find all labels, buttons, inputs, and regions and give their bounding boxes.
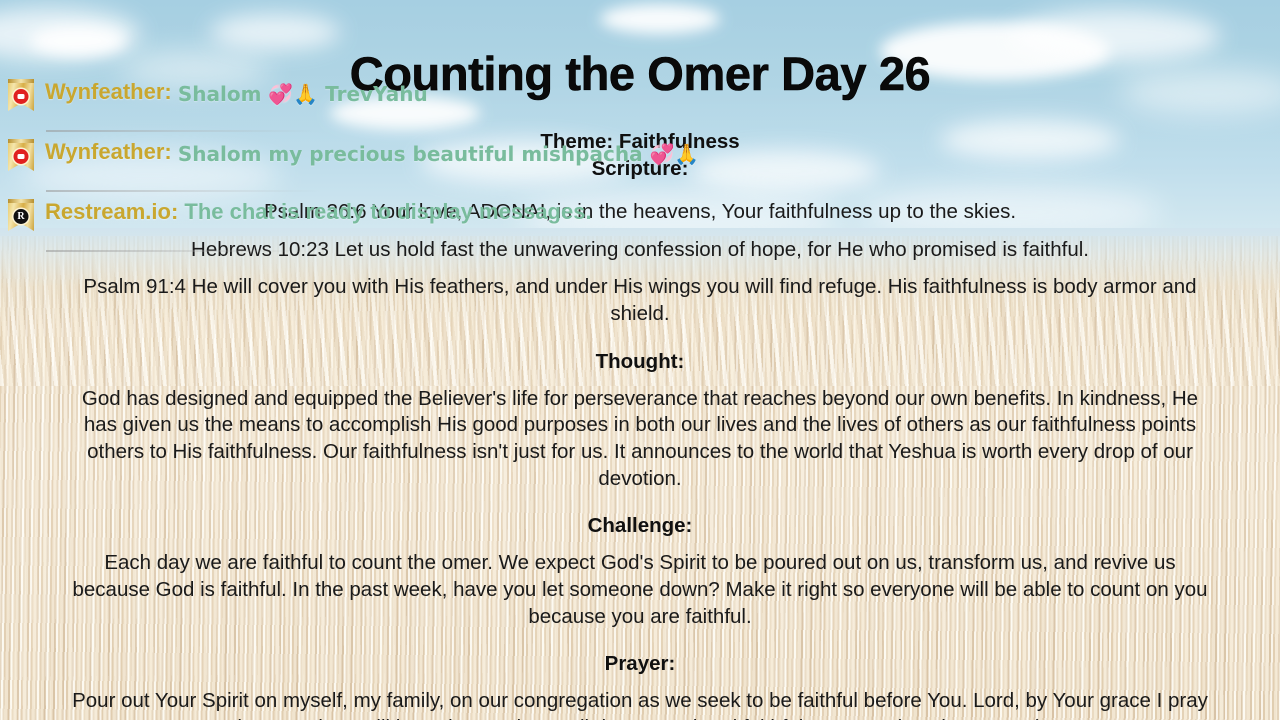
chat-username: Wynfeather: [45, 79, 172, 104]
chat-message-row: Wynfeather: Shalom my precious beautiful… [0, 138, 820, 198]
chat-overlay: Wynfeather: Shalom 💞🙏 TrevYahu Wynfeathe… [0, 78, 820, 258]
chat-divider [46, 250, 321, 252]
chat-message-row: R Restream.io: The chat is ready to disp… [0, 198, 820, 258]
prayer-heading: Prayer: [64, 650, 1216, 677]
scripture-verse-3: Psalm 91:4 He will cover you with His fe… [64, 274, 1216, 327]
chat-divider [46, 130, 321, 132]
youtube-member-badge-icon [8, 139, 34, 171]
chat-username: Wynfeather: [45, 139, 172, 164]
chat-message-text: Restream.io: The chat is ready to displa… [45, 198, 820, 225]
chat-message-row: Wynfeather: Shalom 💞🙏 TrevYahu [0, 78, 820, 138]
thought-heading: Thought: [64, 348, 1216, 375]
chat-message-text: Wynfeather: Shalom 💞🙏 TrevYahu [45, 78, 820, 105]
chat-divider [46, 190, 321, 192]
chat-message-body: Shalom 💞🙏 TrevYahu [178, 82, 428, 106]
chat-username: Restream.io: [45, 199, 178, 224]
restream-badge-icon: R [8, 199, 34, 231]
prayer-body: Pour out Your Spirit on myself, my famil… [64, 688, 1216, 720]
challenge-body: Each day we are faithful to count the om… [64, 550, 1216, 630]
slide-stage: Counting the Omer Day 26 Theme: Faithful… [0, 0, 1280, 720]
thought-body: God has designed and equipped the Believ… [64, 386, 1216, 493]
challenge-heading: Challenge: [64, 512, 1216, 539]
youtube-member-badge-icon [8, 79, 34, 111]
chat-message-text: Wynfeather: Shalom my precious beautiful… [45, 138, 820, 165]
chat-message-body: Shalom my precious beautiful mishpacha 💞… [178, 142, 699, 166]
chat-message-body: The chat is ready to display messages. [184, 199, 591, 224]
